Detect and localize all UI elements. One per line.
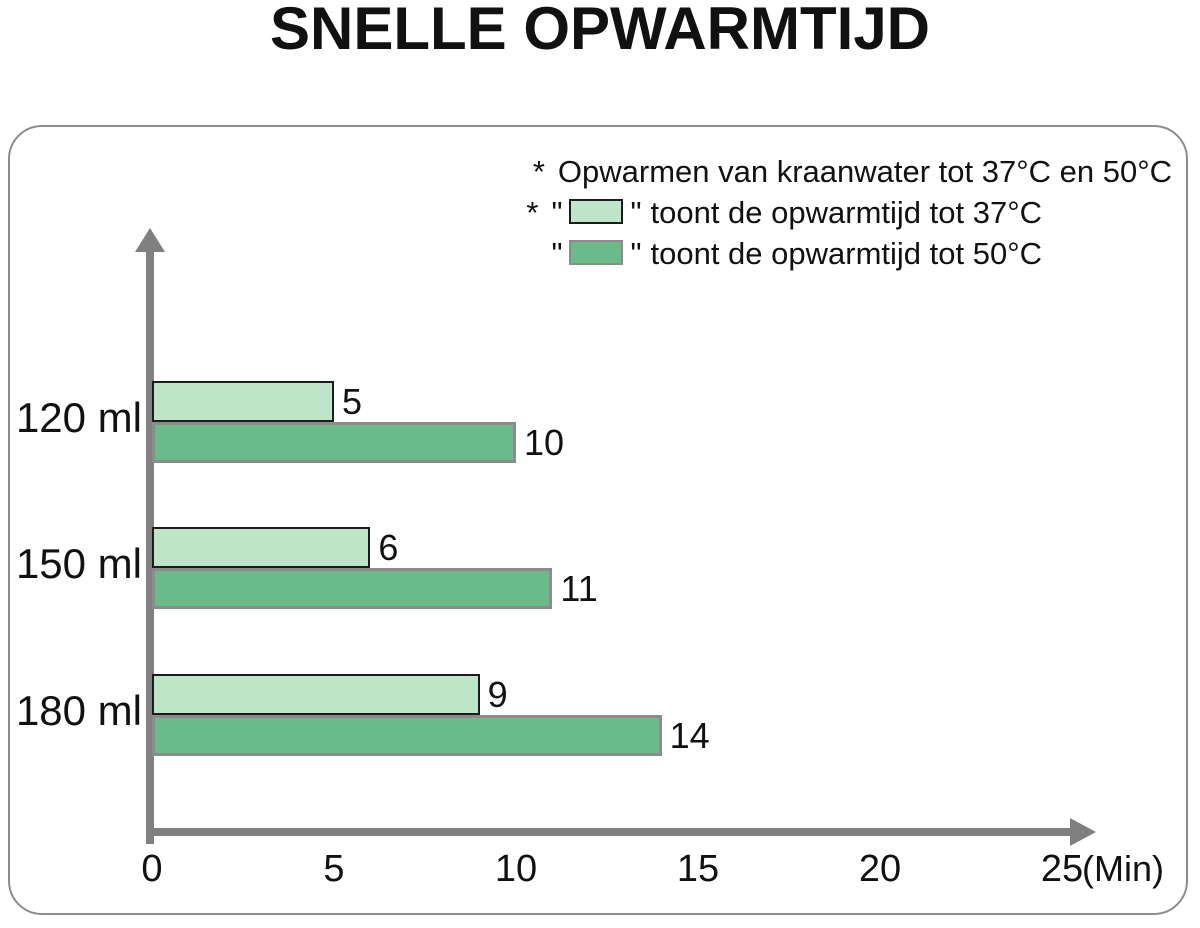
asterisk-marker: *	[526, 195, 538, 231]
legend-line-note: * Opwarmen van kraanwater tot 37°C en 50…	[480, 151, 1180, 192]
quote-open: "	[551, 236, 562, 272]
legend-label-37c: toont de opwarmtijd tot 37°C	[651, 195, 1043, 231]
asterisk-marker: *	[533, 154, 545, 190]
page-title: SNELLE OPWARMTIJD	[0, 0, 1200, 64]
legend-note-text: Opwarmen van kraanwater tot 37°C en 50°C	[558, 154, 1172, 190]
quote-close: "	[630, 236, 641, 272]
light-green-swatch-icon	[569, 199, 623, 224]
chart-panel: * Opwarmen van kraanwater tot 37°C en 50…	[8, 125, 1188, 915]
quote-close: "	[630, 195, 641, 231]
dark-green-swatch-icon	[569, 240, 623, 265]
legend-item-50c: * " " toont de opwarmtijd tot 50°C	[480, 233, 1180, 274]
legend-item-37c: * " " toont de opwarmtijd tot 37°C	[480, 192, 1180, 233]
quote-open: "	[551, 195, 562, 231]
legend-label-50c: toont de opwarmtijd tot 50°C	[651, 236, 1043, 272]
chart-legend: * Opwarmen van kraanwater tot 37°C en 50…	[480, 151, 1180, 274]
